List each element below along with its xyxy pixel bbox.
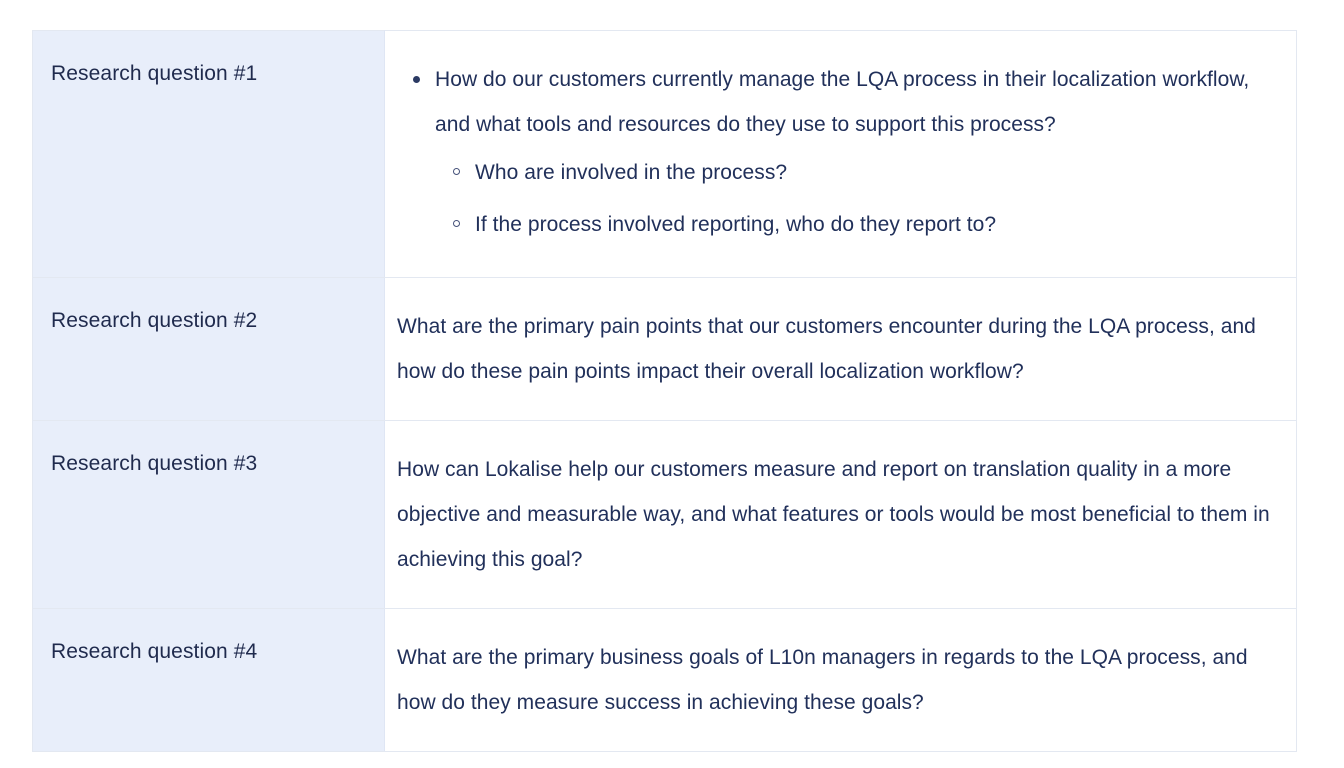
- bullet-list-level-1: How do our customers currently manage th…: [397, 57, 1270, 251]
- bullet-list-level-2: Who are involved in the process? If the …: [435, 147, 1270, 251]
- table-row: Research question #4 What are the primar…: [33, 609, 1297, 752]
- research-questions-table: Research question #1 How do our customer…: [32, 30, 1297, 752]
- document-page: Research question #1 How do our customer…: [0, 0, 1344, 768]
- list-item-text: Who are involved in the process?: [475, 161, 787, 184]
- list-item-text: How do our customers currently manage th…: [435, 68, 1249, 136]
- research-question-label: Research question #2: [51, 306, 384, 336]
- table-body: Research question #1 How do our customer…: [33, 31, 1297, 752]
- table-cell-label: Research question #3: [33, 421, 385, 609]
- research-question-label: Research question #4: [51, 637, 384, 667]
- table-row: Research question #3 How can Lokalise he…: [33, 421, 1297, 609]
- bullet-disc-icon: [413, 76, 420, 83]
- table-row: Research question #1 How do our customer…: [33, 31, 1297, 278]
- table-cell-label: Research question #4: [33, 609, 385, 752]
- list-item-text: If the process involved reporting, who d…: [475, 213, 996, 236]
- table-cell-body: What are the primary business goals of L…: [385, 609, 1297, 752]
- research-question-text: What are the primary business goals of L…: [397, 635, 1270, 725]
- table-cell-body: How can Lokalise help our customers meas…: [385, 421, 1297, 609]
- table-cell-label: Research question #1: [33, 31, 385, 278]
- table-row: Research question #2 What are the primar…: [33, 278, 1297, 421]
- list-item: If the process involved reporting, who d…: [475, 199, 1270, 251]
- bullet-circle-icon: [453, 220, 460, 227]
- table-cell-label: Research question #2: [33, 278, 385, 421]
- research-question-label: Research question #3: [51, 449, 384, 479]
- research-question-label: Research question #1: [51, 59, 384, 89]
- research-question-text: How can Lokalise help our customers meas…: [397, 447, 1270, 582]
- table-cell-body: What are the primary pain points that ou…: [385, 278, 1297, 421]
- research-question-text: What are the primary pain points that ou…: [397, 304, 1270, 394]
- list-item: Who are involved in the process?: [475, 147, 1270, 199]
- bullet-circle-icon: [453, 168, 460, 175]
- list-item: How do our customers currently manage th…: [435, 57, 1270, 251]
- table-cell-body: How do our customers currently manage th…: [385, 31, 1297, 278]
